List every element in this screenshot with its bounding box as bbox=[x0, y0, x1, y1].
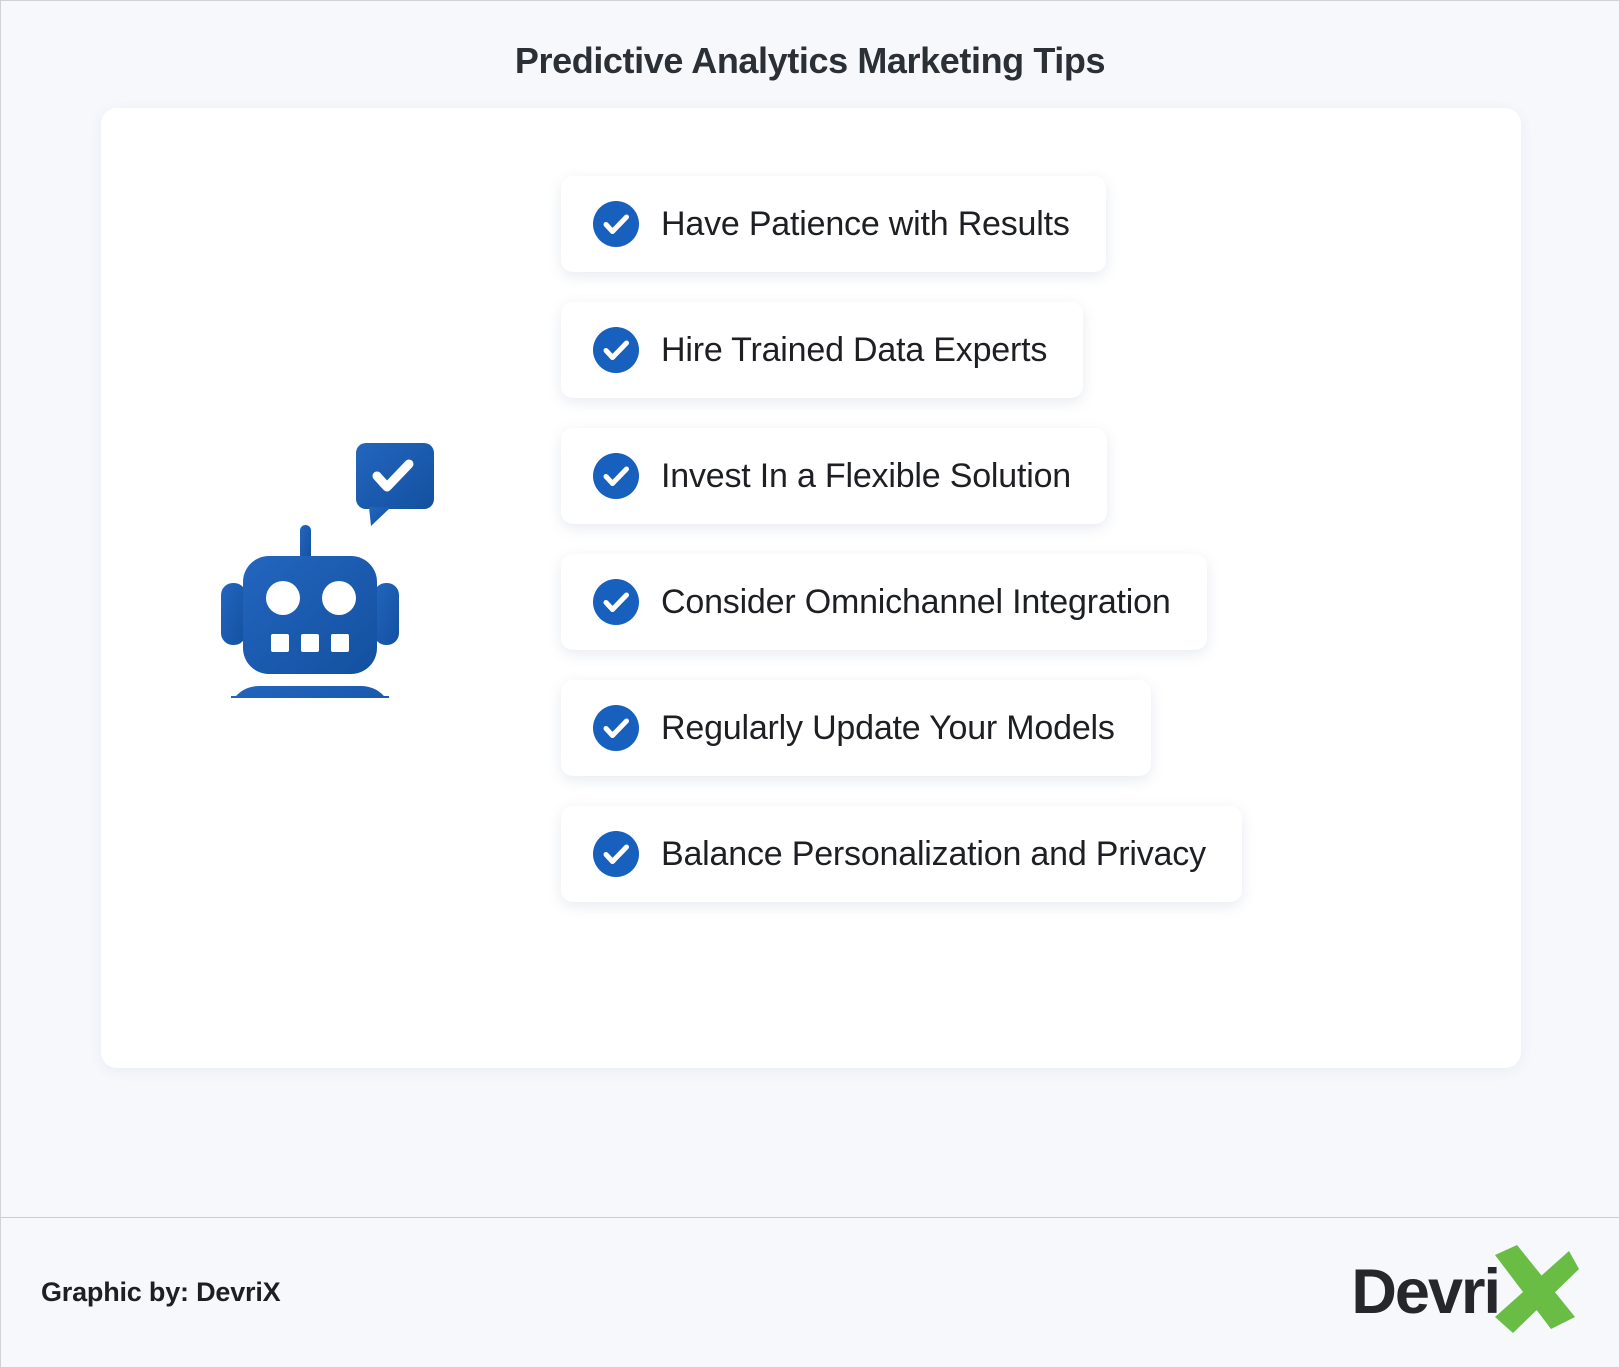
brand-wordmark: Devri bbox=[1351, 1261, 1499, 1324]
footer: Graphic by: DevriX Devri bbox=[1, 1217, 1619, 1367]
tip-label: Regularly Update Your Models bbox=[661, 709, 1115, 748]
tip-label: Invest In a Flexible Solution bbox=[661, 457, 1071, 496]
tips-column: Have Patience with Results Hire Trained … bbox=[561, 108, 1521, 1068]
content-card: Have Patience with Results Hire Trained … bbox=[101, 108, 1521, 1068]
check-circle-icon bbox=[593, 705, 639, 751]
credit-text: Graphic by: DevriX bbox=[41, 1277, 280, 1308]
check-circle-icon bbox=[593, 201, 639, 247]
card-region: Have Patience with Results Hire Trained … bbox=[1, 108, 1619, 1217]
illustration-column bbox=[101, 108, 561, 1068]
robot-icon bbox=[221, 438, 451, 698]
check-circle-icon bbox=[593, 327, 639, 373]
infographic-root: Predictive Analytics Marketing Tips bbox=[0, 0, 1620, 1368]
check-circle-icon bbox=[593, 831, 639, 877]
check-circle-icon bbox=[593, 579, 639, 625]
tip-item[interactable]: Regularly Update Your Models bbox=[561, 680, 1151, 776]
tip-item[interactable]: Have Patience with Results bbox=[561, 176, 1106, 272]
tip-item[interactable]: Balance Personalization and Privacy bbox=[561, 806, 1242, 902]
tip-item[interactable]: Invest In a Flexible Solution bbox=[561, 428, 1107, 524]
tip-label: Balance Personalization and Privacy bbox=[661, 835, 1206, 874]
tip-item[interactable]: Hire Trained Data Experts bbox=[561, 302, 1083, 398]
tips-list: Have Patience with Results Hire Trained … bbox=[561, 176, 1521, 902]
devrix-logo[interactable]: Devri bbox=[1351, 1253, 1579, 1333]
page-title: Predictive Analytics Marketing Tips bbox=[41, 39, 1579, 82]
robot-illustration bbox=[221, 438, 451, 698]
speech-bubble-icon bbox=[356, 443, 434, 526]
title-bar: Predictive Analytics Marketing Tips bbox=[1, 1, 1619, 108]
tip-label: Hire Trained Data Experts bbox=[661, 331, 1047, 370]
tip-label: Have Patience with Results bbox=[661, 205, 1070, 244]
tip-label: Consider Omnichannel Integration bbox=[661, 583, 1171, 622]
tip-item[interactable]: Consider Omnichannel Integration bbox=[561, 554, 1207, 650]
check-circle-icon bbox=[593, 453, 639, 499]
